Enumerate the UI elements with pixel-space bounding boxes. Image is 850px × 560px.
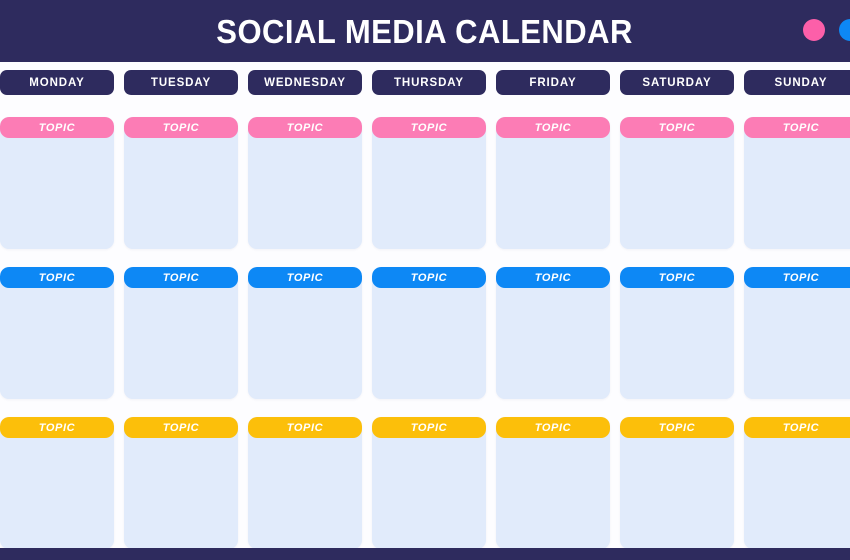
topic-card-body[interactable] <box>124 138 238 249</box>
topic-card[interactable]: TOPIC <box>0 417 114 549</box>
topic-label[interactable]: TOPIC <box>0 117 114 138</box>
calendar-week-row-3: TOPIC TOPIC TOPIC TOPIC <box>0 417 850 549</box>
cell-friday-row3: TOPIC <box>496 417 610 549</box>
topic-card-body[interactable] <box>372 288 486 399</box>
topic-card-body[interactable] <box>372 138 486 249</box>
row-gap-2 <box>0 399 850 417</box>
cell-thursday-row3: TOPIC <box>372 417 486 549</box>
topic-card[interactable]: TOPIC <box>0 267 114 399</box>
topic-label[interactable]: TOPIC <box>620 117 734 138</box>
topic-card[interactable]: TOPIC <box>372 417 486 549</box>
topic-label[interactable]: TOPIC <box>248 117 362 138</box>
cell-sunday-row1: TOPIC <box>744 117 850 249</box>
topic-card-body[interactable] <box>372 438 486 549</box>
topic-card[interactable]: TOPIC <box>248 117 362 249</box>
topic-label[interactable]: TOPIC <box>124 267 238 288</box>
topic-card[interactable]: TOPIC <box>124 417 238 549</box>
cell-wednesday-row1: TOPIC <box>248 117 362 249</box>
calendar-grid: MONDAY TUESDAY WEDNESDAY THURSDAY FRIDAY… <box>0 70 850 549</box>
topic-label[interactable]: TOPIC <box>372 267 486 288</box>
topic-label[interactable]: TOPIC <box>744 117 850 138</box>
topic-label[interactable]: TOPIC <box>620 417 734 438</box>
topic-card[interactable]: TOPIC <box>124 117 238 249</box>
calendar-week-row-1: TOPIC TOPIC TOPIC TOPIC <box>0 117 850 249</box>
pink-dot-icon <box>803 19 825 41</box>
topic-card[interactable]: TOPIC <box>0 117 114 249</box>
blue-dot-icon <box>839 19 850 41</box>
topic-card-body[interactable] <box>248 438 362 549</box>
cell-monday-row3: TOPIC <box>0 417 114 549</box>
day-column-saturday: SATURDAY <box>620 70 734 95</box>
cell-tuesday-row3: TOPIC <box>124 417 238 549</box>
cell-wednesday-row2: TOPIC <box>248 267 362 399</box>
topic-card-body[interactable] <box>496 138 610 249</box>
day-header-friday[interactable]: FRIDAY <box>496 70 610 95</box>
cell-monday-row2: TOPIC <box>0 267 114 399</box>
day-header-thursday[interactable]: THURSDAY <box>372 70 486 95</box>
topic-label[interactable]: TOPIC <box>744 267 850 288</box>
topic-label[interactable]: TOPIC <box>124 117 238 138</box>
topic-card[interactable]: TOPIC <box>620 417 734 549</box>
topic-card[interactable]: TOPIC <box>620 267 734 399</box>
topic-label[interactable]: TOPIC <box>744 417 850 438</box>
topic-card[interactable]: TOPIC <box>248 417 362 549</box>
topic-card-body[interactable] <box>620 138 734 249</box>
topic-label[interactable]: TOPIC <box>496 417 610 438</box>
topic-label[interactable]: TOPIC <box>372 417 486 438</box>
topic-card-body[interactable] <box>744 288 850 399</box>
topic-card-body[interactable] <box>0 288 114 399</box>
topic-label[interactable]: TOPIC <box>0 417 114 438</box>
day-column-sunday: SUNDAY <box>744 70 850 95</box>
header-gap <box>0 95 850 117</box>
topic-label[interactable]: TOPIC <box>620 267 734 288</box>
topic-card[interactable]: TOPIC <box>496 267 610 399</box>
page-header: SOCIAL MEDIA CALENDAR <box>0 0 850 62</box>
cell-thursday-row1: TOPIC <box>372 117 486 249</box>
day-header-row: MONDAY TUESDAY WEDNESDAY THURSDAY FRIDAY… <box>0 70 850 95</box>
cell-friday-row1: TOPIC <box>496 117 610 249</box>
day-column-tuesday: TUESDAY <box>124 70 238 95</box>
day-column-wednesday: WEDNESDAY <box>248 70 362 95</box>
cell-saturday-row3: TOPIC <box>620 417 734 549</box>
topic-card[interactable]: TOPIC <box>496 117 610 249</box>
cell-tuesday-row1: TOPIC <box>124 117 238 249</box>
cell-wednesday-row3: TOPIC <box>248 417 362 549</box>
topic-label[interactable]: TOPIC <box>496 117 610 138</box>
topic-card-body[interactable] <box>496 438 610 549</box>
calendar-page: SOCIAL MEDIA CALENDAR MONDAY TUESDAY WED… <box>0 0 850 560</box>
topic-label[interactable]: TOPIC <box>124 417 238 438</box>
day-column-monday: MONDAY <box>0 70 114 95</box>
topic-label[interactable]: TOPIC <box>496 267 610 288</box>
cell-sunday-row2: TOPIC <box>744 267 850 399</box>
topic-card[interactable]: TOPIC <box>744 117 850 249</box>
topic-label[interactable]: TOPIC <box>248 417 362 438</box>
day-column-friday: FRIDAY <box>496 70 610 95</box>
day-column-thursday: THURSDAY <box>372 70 486 95</box>
cell-friday-row2: TOPIC <box>496 267 610 399</box>
day-header-monday[interactable]: MONDAY <box>0 70 114 95</box>
cell-monday-row1: TOPIC <box>0 117 114 249</box>
day-header-sunday[interactable]: SUNDAY <box>744 70 850 95</box>
topic-card[interactable]: TOPIC <box>372 117 486 249</box>
day-header-tuesday[interactable]: TUESDAY <box>124 70 238 95</box>
topic-card[interactable]: TOPIC <box>496 417 610 549</box>
page-footer-bar <box>0 548 850 560</box>
topic-card[interactable]: TOPIC <box>620 117 734 249</box>
topic-card-body[interactable] <box>0 138 114 249</box>
topic-card-body[interactable] <box>620 438 734 549</box>
topic-card-body[interactable] <box>248 288 362 399</box>
topic-card-body[interactable] <box>496 288 610 399</box>
header-decoration-dots <box>803 19 850 41</box>
cell-tuesday-row2: TOPIC <box>124 267 238 399</box>
topic-label[interactable]: TOPIC <box>248 267 362 288</box>
calendar-week-row-2: TOPIC TOPIC TOPIC TOPIC <box>0 267 850 399</box>
topic-label[interactable]: TOPIC <box>372 117 486 138</box>
cell-saturday-row2: TOPIC <box>620 267 734 399</box>
topic-card[interactable]: TOPIC <box>248 267 362 399</box>
topic-card[interactable]: TOPIC <box>124 267 238 399</box>
page-title: SOCIAL MEDIA CALENDAR <box>217 15 634 48</box>
topic-label[interactable]: TOPIC <box>0 267 114 288</box>
topic-card-body[interactable] <box>0 438 114 549</box>
topic-card-body[interactable] <box>124 288 238 399</box>
topic-card[interactable]: TOPIC <box>744 417 850 549</box>
topic-card-body[interactable] <box>620 288 734 399</box>
topic-card[interactable]: TOPIC <box>744 267 850 399</box>
cell-sunday-row3: TOPIC <box>744 417 850 549</box>
day-header-saturday[interactable]: SATURDAY <box>620 70 734 95</box>
topic-card[interactable]: TOPIC <box>372 267 486 399</box>
topic-card-body[interactable] <box>248 138 362 249</box>
cell-thursday-row2: TOPIC <box>372 267 486 399</box>
row-gap-1 <box>0 249 850 267</box>
day-header-wednesday[interactable]: WEDNESDAY <box>248 70 362 95</box>
topic-card-body[interactable] <box>744 438 850 549</box>
cell-saturday-row1: TOPIC <box>620 117 734 249</box>
topic-card-body[interactable] <box>744 138 850 249</box>
topic-card-body[interactable] <box>124 438 238 549</box>
